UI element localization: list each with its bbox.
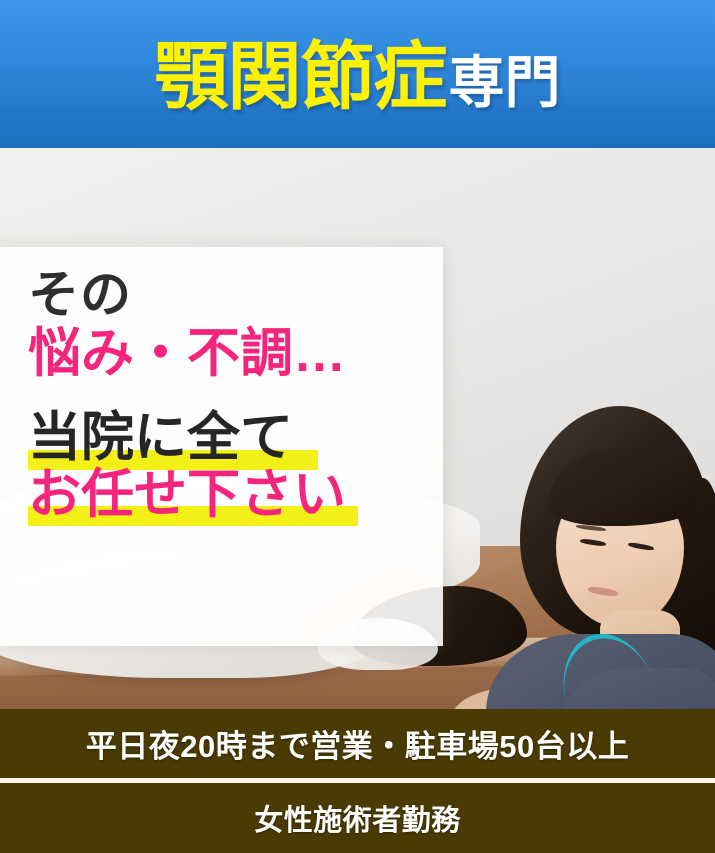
hero-line-4-text: お任せ下さい [28, 465, 346, 524]
hero-line-4: お任せ下さい [28, 468, 428, 522]
hero-line-1: その [28, 269, 428, 321]
header-title-emphasis: 顎関節症 [155, 40, 447, 114]
hero-text-card: その 悩み・不調… 当院に全て お任せ下さい [0, 247, 443, 646]
hero-line-1-text: その [28, 266, 132, 323]
header-title-suffix: 専門 [449, 55, 561, 111]
footer-bar-hours: 平日夜20時まで営業・駐車場50台以上 [0, 709, 715, 778]
hero-line-3: 当院に全て [28, 411, 428, 465]
hero-line-2: 悩み・不調… [28, 327, 428, 381]
header-band: 顎関節症 専門 [0, 0, 715, 148]
header-title: 顎関節症 専門 [155, 34, 561, 114]
hero-line-3-text: 当院に全て [28, 408, 293, 467]
hero-text-lines: その 悩み・不調… 当院に全て お任せ下さい [28, 269, 428, 522]
hero-line-2-text: 悩み・不調… [28, 324, 346, 383]
footer-bar-hours-text: 平日夜20時まで営業・駐車場50台以上 [86, 721, 629, 766]
footer-bar-staff: 女性施術者勤務 [0, 783, 715, 853]
clinic-hero-banner: 顎関節症 専門 その [0, 0, 715, 853]
footer-bar-staff-text: 女性施術者勤務 [254, 797, 461, 839]
